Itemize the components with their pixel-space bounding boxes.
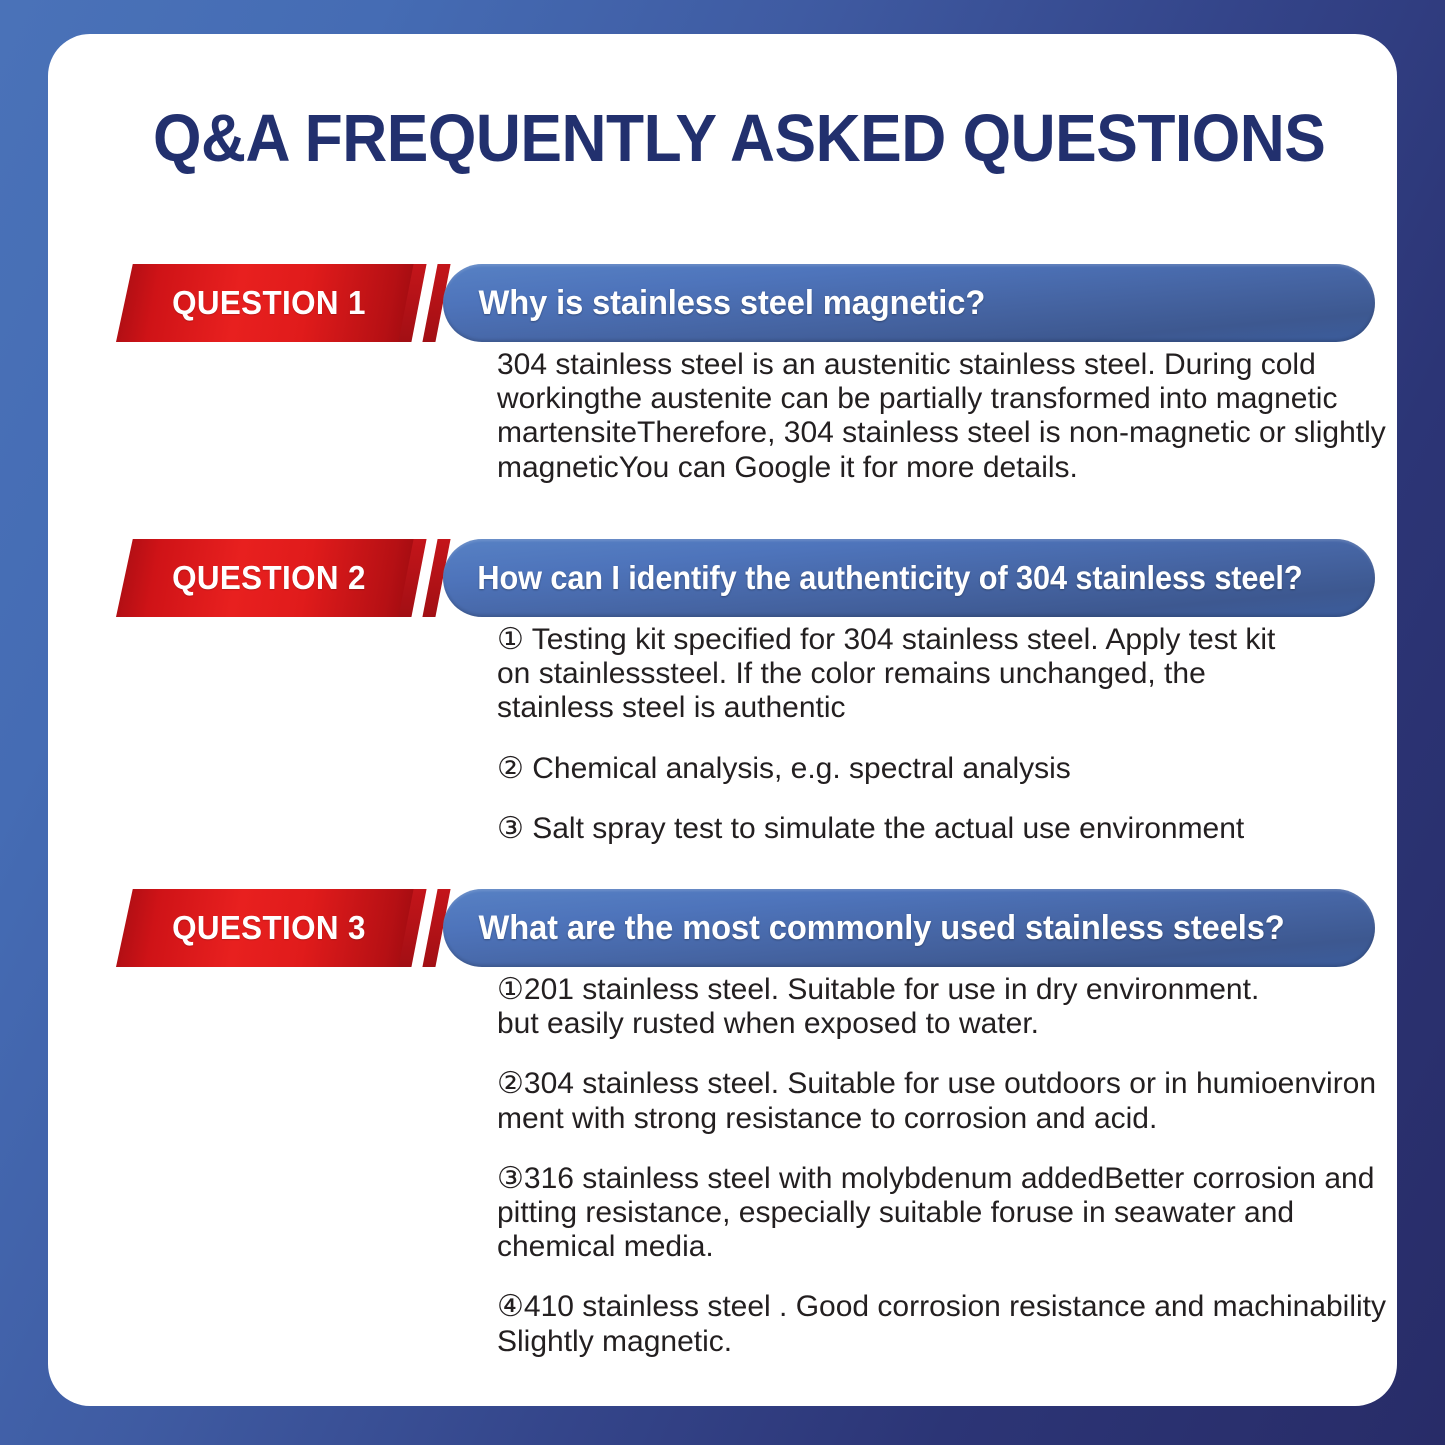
question-tag-label: QUESTION 1 [172, 284, 366, 322]
question-text: Why is stainless steel magnetic? [443, 284, 985, 323]
faq-item-1: QUESTION 1 Why is stainless steel magnet… [48, 264, 1397, 342]
question-banner-2[interactable]: How can I identify the authenticity of 3… [443, 539, 1375, 617]
page-title: Q&A FREQUENTLY ASKED QUESTIONS [153, 100, 1269, 177]
slash-bar-1 [398, 889, 426, 967]
answer-paragraph: ④410 stainless steel . Good corrosion re… [497, 1290, 1397, 1358]
question-banner-3[interactable]: What are the most commonly used stainles… [443, 889, 1375, 967]
slash-bar-1 [398, 539, 426, 617]
question-text: What are the most commonly used stainles… [443, 909, 1285, 948]
question-tag-3: QUESTION 3 [116, 889, 421, 967]
faq-item-2: QUESTION 2 How can I identify the authen… [48, 539, 1397, 617]
slash-bar-1 [398, 264, 426, 342]
answer-paragraph: 304 stainless steel is an austenitic sta… [497, 348, 1397, 485]
answer-paragraph: ①201 stainless steel. Suitable for use i… [497, 973, 1397, 1041]
question-banner-1[interactable]: Why is stainless steel magnetic? [443, 264, 1375, 342]
faq-card: Q&A FREQUENTLY ASKED QUESTIONS QUESTION … [48, 34, 1397, 1406]
faq-header-3: QUESTION 3 What are the most commonly us… [48, 889, 1397, 967]
answer-body-3: ①201 stainless steel. Suitable for use i… [497, 973, 1397, 1359]
answer-paragraph: ① Testing kit specified for 304 stainles… [497, 623, 1302, 726]
answer-body-2: ① Testing kit specified for 304 stainles… [497, 623, 1302, 846]
faq-header-1: QUESTION 1 Why is stainless steel magnet… [48, 264, 1397, 342]
faq-item-3: QUESTION 3 What are the most commonly us… [48, 889, 1397, 967]
question-tag-label: QUESTION 3 [172, 909, 366, 947]
answer-paragraph: ②304 stainless steel. Suitable for use o… [497, 1067, 1397, 1135]
question-text: How can I identify the authenticity of 3… [443, 559, 1302, 597]
faq-header-2: QUESTION 2 How can I identify the authen… [48, 539, 1397, 617]
answer-paragraph: ③ Salt spray test to simulate the actual… [497, 812, 1302, 846]
question-tag-label: QUESTION 2 [172, 559, 366, 597]
answer-paragraph: ② Chemical analysis, e.g. spectral analy… [497, 752, 1302, 786]
answer-paragraph: ③316 stainless steel with molybdenum add… [497, 1162, 1397, 1265]
question-tag-1: QUESTION 1 [116, 264, 421, 342]
answer-body-1: 304 stainless steel is an austenitic sta… [497, 348, 1397, 485]
question-tag-2: QUESTION 2 [116, 539, 421, 617]
